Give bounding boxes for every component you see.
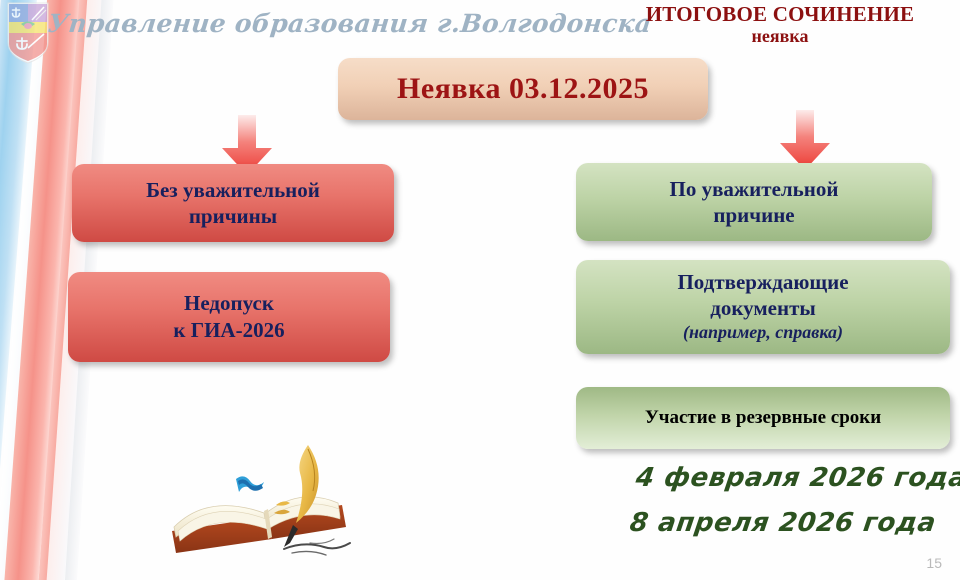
reserve-participation-label: Участие в резервные сроки — [645, 407, 881, 429]
page-number: 15 — [926, 555, 942, 571]
slide-heading-line2: неявка — [600, 26, 960, 47]
supporting-documents-line1: Подтверждающие — [677, 270, 848, 296]
supporting-documents-line2: документы — [710, 296, 816, 322]
open-book-with-quill-icon — [160, 443, 400, 575]
reserve-participation-box: Участие в резервные сроки — [576, 387, 950, 449]
organization-title: Управление образования г.Волгодонска — [46, 9, 653, 38]
valid-reason-line2: причине — [713, 202, 794, 228]
band-stripe-blue — [0, 0, 40, 580]
no-valid-reason-line2: причины — [189, 203, 277, 229]
slide-heading: ИТОГОВОЕ СОЧИНЕНИЕ неявка — [600, 2, 960, 47]
coat-of-arms-icon — [6, 2, 50, 64]
valid-reason-line1: По уважительной — [670, 176, 839, 202]
gia-denial-line2: к ГИА-2026 — [173, 317, 284, 344]
supporting-documents-note: (например, справка) — [683, 322, 843, 344]
supporting-documents-box: Подтверждающие документы (например, спра… — [576, 260, 950, 354]
slide-heading-line1: ИТОГОВОЕ СОЧИНЕНИЕ — [600, 2, 960, 26]
gia-denial-line1: Недопуск — [184, 290, 274, 317]
reserve-date-2: 8 апреля 2026 года — [628, 508, 938, 538]
band-stripe-white-outer — [0, 0, 8, 580]
absence-date-label: Неявка 03.12.2025 — [397, 72, 649, 106]
absence-date-box: Неявка 03.12.2025 — [338, 58, 708, 120]
no-valid-reason-line1: Без уважительной — [146, 177, 320, 203]
valid-reason-box: По уважительной причине — [576, 163, 932, 241]
no-valid-reason-box: Без уважительной причины — [72, 164, 394, 242]
gia-denial-box: Недопуск к ГИА-2026 — [68, 272, 390, 362]
band-stripe-white-mid — [0, 0, 54, 580]
reserve-date-1: 4 февраля 2026 года — [634, 463, 960, 493]
